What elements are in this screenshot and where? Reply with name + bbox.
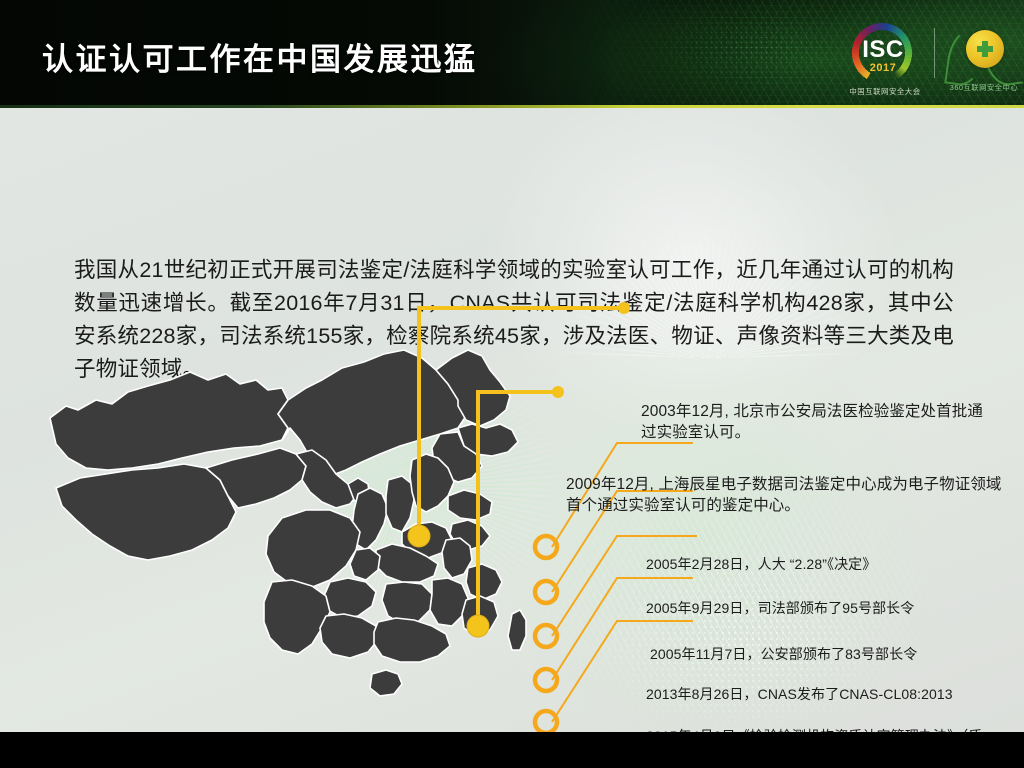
timeline-item-1: 2005年9月29日，司法部颁布了95号部长令 (646, 598, 996, 618)
isc-logo: ISC 2017 中国互联网安全大会 (848, 22, 922, 100)
slide-body: 我国从21世纪初正式开展司法鉴定/法庭科学领域的实验室认可工作，近几年通过认可的… (0, 108, 1024, 732)
china-map (20, 288, 560, 728)
island-taiwan (508, 610, 526, 650)
slide-footer (0, 732, 1024, 768)
callout-text-1: 2003年12月, 北京市公安局法医检验鉴定处首批通过实验室认可。 (641, 401, 991, 443)
header-dot-texture (614, 0, 874, 108)
slide-root: 认证认可工作在中国发展迅猛 ISC 2017 中国互联网安全大会 360互联网安… (0, 0, 1024, 768)
province-guangxi (320, 614, 378, 658)
isc-logo-text: ISC (854, 36, 912, 64)
province-sichuan (266, 510, 360, 588)
province-hunan (382, 582, 432, 624)
logo-divider (934, 28, 935, 78)
callout-text-2: 2009年12月, 上海辰星电子数据司法鉴定中心成为电子物证领域首个通过实验室认… (566, 474, 1011, 516)
province-chongqing (350, 548, 380, 580)
page-title: 认证认可工作在中国发展迅猛 (42, 34, 478, 79)
china-map-svg (20, 288, 560, 728)
island-hainan (370, 670, 402, 696)
isc-logo-subtitle: 中国互联网安全大会 (845, 86, 924, 96)
province-guizhou (324, 578, 376, 618)
slide-header: 认证认可工作在中国发展迅猛 ISC 2017 中国互联网安全大会 360互联网安… (0, 0, 1024, 108)
shield-cross-icon (977, 41, 993, 57)
isc-logo-year: 2017 (854, 62, 912, 74)
timeline-item-0: 2005年2月28日，人大 “2.28”《决定》 (646, 554, 1006, 574)
province-tibet (56, 464, 236, 560)
timeline-item-2: 2005年11月7日，公安部颁布了83号部长令 (650, 644, 1010, 664)
province-zhejiang (466, 564, 502, 600)
timeline-item-3: 2013年8月26日，CNAS发布了CNAS-CL08:2013 (646, 684, 1016, 704)
province-shanxi (386, 476, 414, 532)
province-shandong (448, 490, 492, 520)
sec360-logo-subtitle: 360互联网安全中心 (945, 82, 1022, 92)
province-yunnan (264, 580, 330, 654)
province-fujian (462, 596, 498, 636)
sec360-logo: 360互联网安全中心 (946, 20, 1022, 100)
